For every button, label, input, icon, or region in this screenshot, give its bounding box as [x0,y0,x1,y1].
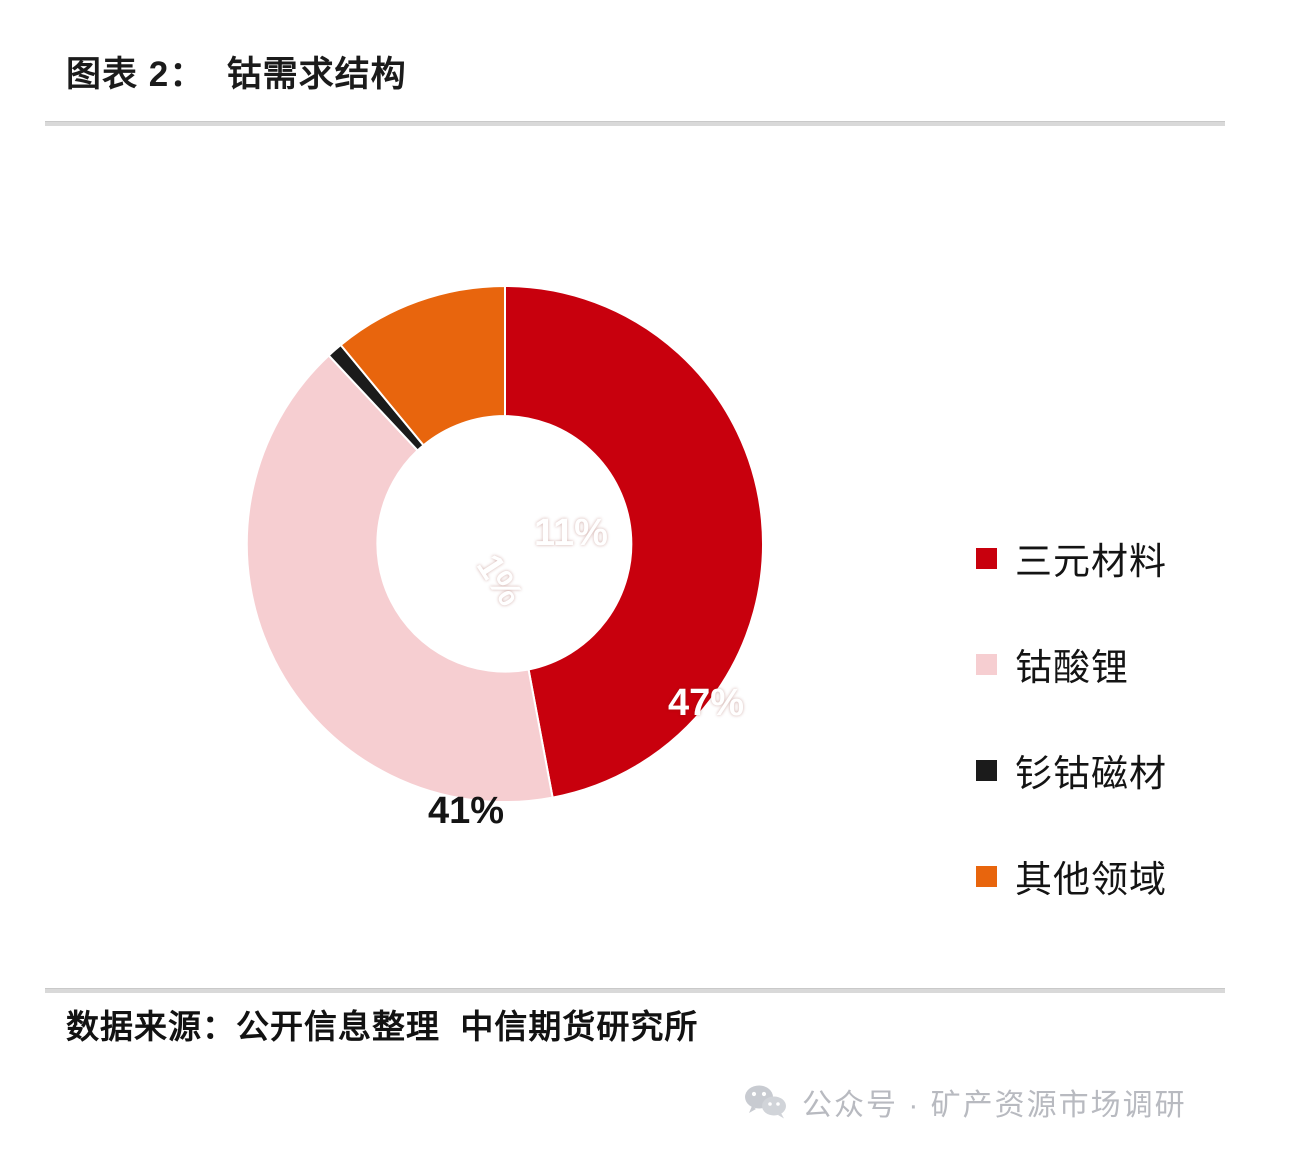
chart-legend: 三元材料 钴酸锂 钐钴磁材 其他领域 [976,505,1276,929]
donut-chart-svg [243,282,767,806]
legend-swatch-icon [976,548,997,569]
legend-swatch-icon [976,866,997,887]
source-note: 数据来源：公开信息整理 中信期货研究所 [66,1000,698,1048]
page-title: 图表 2： 钴需求结构 [66,46,407,97]
legend-swatch-icon [976,760,997,781]
watermark-label: 公众号 · 矿产资源市场调研 [802,1080,1187,1124]
pie-slice-sanyuan-cailiao[interactable] [505,286,763,798]
header-divider [45,121,1225,126]
wechat-icon [744,1085,788,1119]
figure-page: 图表 2： 钴需求结构 47% 41% 1% 11% [0,0,1304,1152]
footer-divider [45,988,1225,993]
legend-item-gusuanli[interactable]: 钴酸锂 [976,611,1276,717]
legend-swatch-icon [976,654,997,675]
legend-item-label: 三元材料 [1015,531,1167,585]
legend-item-label: 钐钴磁材 [1015,743,1167,797]
legend-item-qita-lingyu[interactable]: 其他领域 [976,823,1276,929]
donut-chart [243,282,767,806]
legend-item-label: 其他领域 [1015,849,1167,903]
legend-item-shangu-cicai[interactable]: 钐钴磁材 [976,717,1276,823]
watermark: 公众号 · 矿产资源市场调研 [744,1080,1187,1124]
legend-item-label: 钴酸锂 [1015,637,1129,691]
chart-container: 47% 41% 1% 11% 三元材料 钴酸锂 钐钴磁材 其他领域 [140,150,1180,970]
legend-item-sanyuan-cailiao[interactable]: 三元材料 [976,505,1276,611]
